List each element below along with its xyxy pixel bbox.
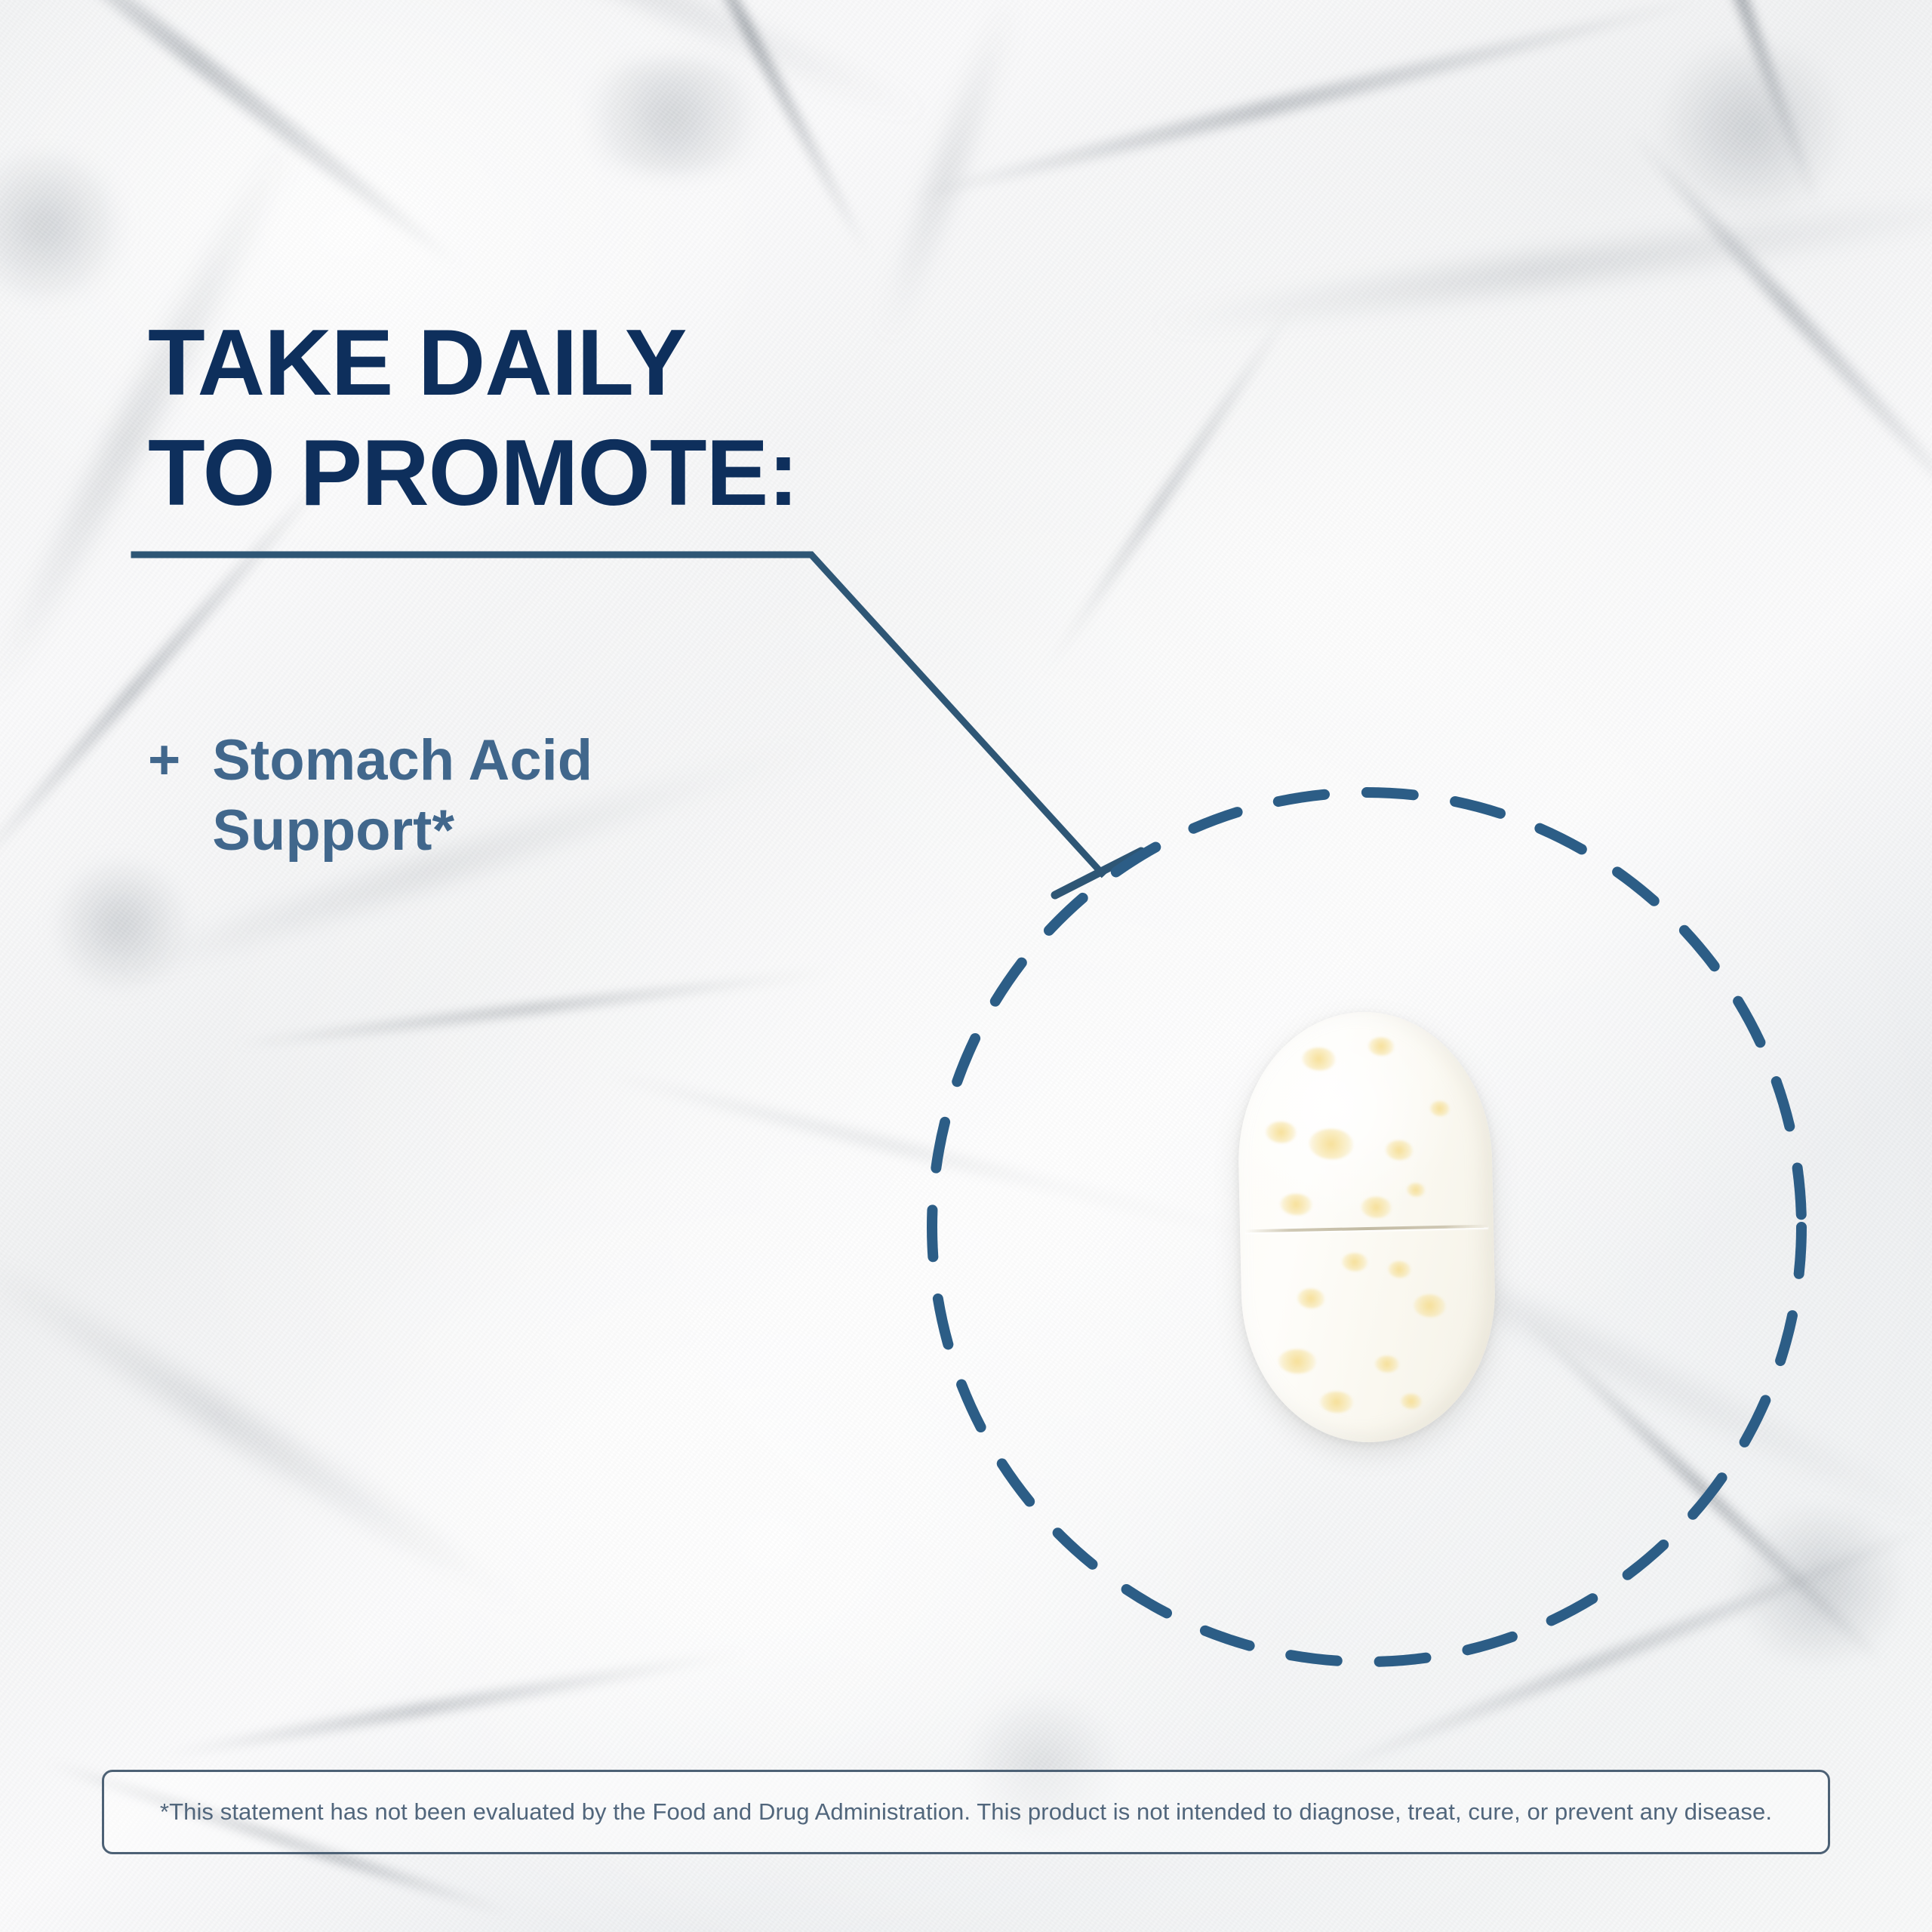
list-item: + Stomach Acid Support*	[148, 726, 740, 866]
tablet-speckle	[1388, 1260, 1411, 1278]
tablet-speckle	[1401, 1394, 1422, 1410]
benefit-list: + Stomach Acid Support*	[148, 726, 740, 866]
tablet-speckle	[1430, 1100, 1450, 1116]
tablet-speckle	[1374, 1355, 1398, 1373]
disclaimer-text: *This statement has not been evaluated b…	[130, 1798, 1802, 1826]
product-graphic-canvas: TAKE DAILY TO PROMOTE: + Stomach Acid Su…	[0, 0, 1932, 1932]
page-title: TAKE DAILY TO PROMOTE:	[148, 308, 798, 529]
tablet-speckle	[1309, 1128, 1353, 1159]
tablet-speckle	[1302, 1047, 1336, 1070]
tablet-speckle	[1280, 1194, 1312, 1216]
tablet-speckle	[1342, 1253, 1367, 1272]
tablet-speckle	[1367, 1037, 1393, 1056]
tablet-speckle	[1414, 1294, 1446, 1318]
tablet-speckle	[1361, 1196, 1392, 1218]
tablet-speckle	[1297, 1288, 1325, 1309]
tablet-speckle	[1407, 1183, 1425, 1196]
disclaimer-box: *This statement has not been evaluated b…	[102, 1770, 1830, 1854]
tablet-speckle	[1266, 1121, 1297, 1143]
tablet-speckle	[1278, 1349, 1316, 1374]
supplement-tablet	[1235, 1010, 1498, 1445]
tablet-score-line	[1245, 1225, 1489, 1233]
tablet-speckle	[1385, 1140, 1413, 1161]
plus-icon: +	[148, 731, 180, 789]
benefit-label: Stomach Acid Support*	[212, 726, 740, 866]
product-callout	[921, 782, 1812, 1672]
tablet-speckle	[1319, 1391, 1353, 1413]
